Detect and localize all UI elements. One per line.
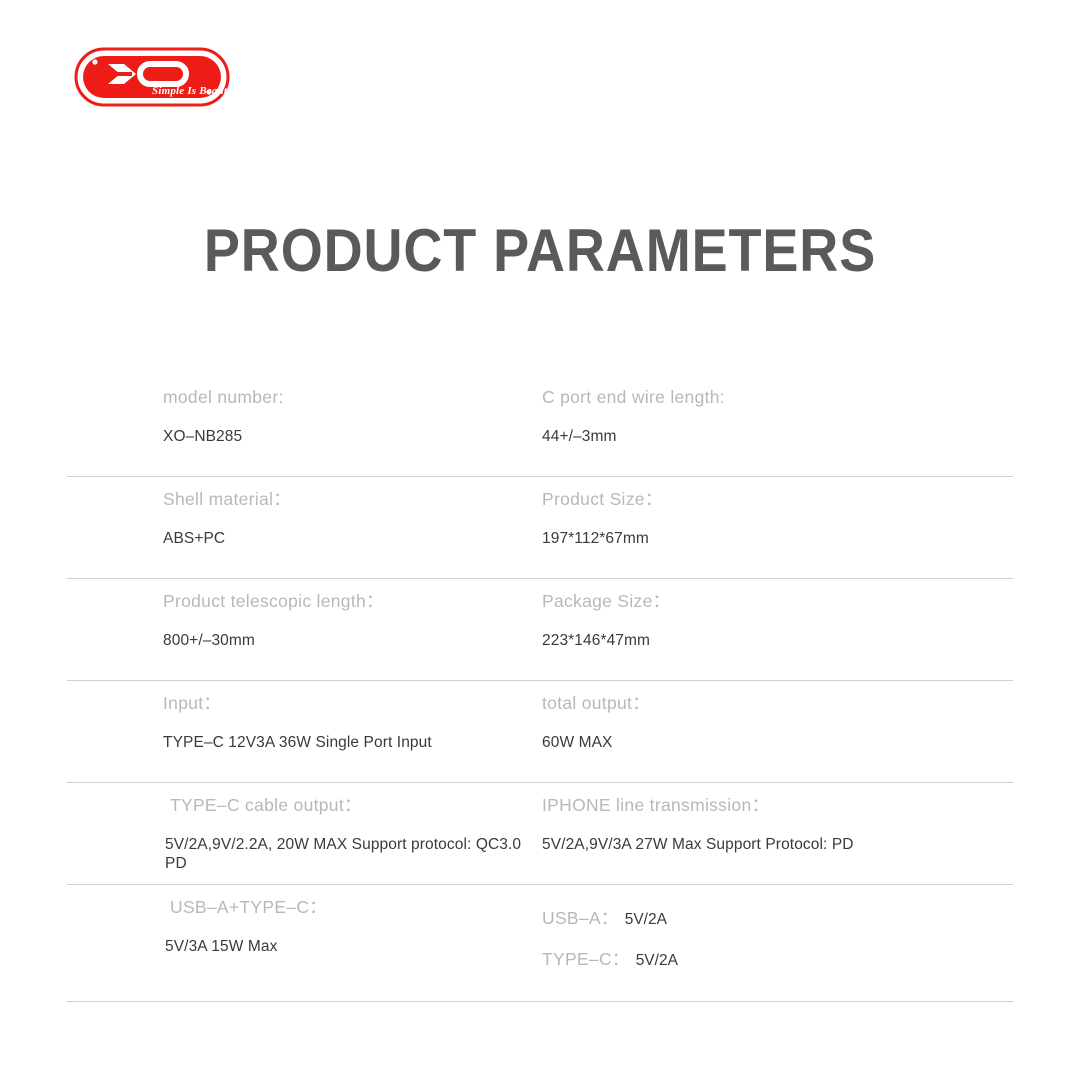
- spec-pair-label: USB–A：: [542, 905, 619, 930]
- spec-label: TYPE–C cable output：: [170, 795, 530, 816]
- spec-value: XO–NB285: [163, 428, 530, 447]
- table-row: Input： TYPE–C 12V3A 36W Single Port Inpu…: [67, 681, 1013, 783]
- spec-label: USB–A+TYPE–C：: [170, 897, 530, 918]
- spec-cell-right: Product Size： 197*112*67mm: [540, 489, 1013, 578]
- spec-value: 5V/2A,9V/2.2A, 20W MAX Support protocol:…: [165, 836, 530, 873]
- spec-cell-right: IPHONE line transmission： 5V/2A,9V/3A 27…: [540, 795, 1013, 884]
- table-row: Product telescopic length： 800+/–30mm Pa…: [67, 579, 1013, 681]
- spec-label: IPHONE line transmission：: [542, 795, 1003, 816]
- spec-cell-right: total output： 60W MAX: [540, 693, 1013, 782]
- spec-label: model number:: [163, 387, 530, 408]
- spec-label: Package Size：: [542, 591, 1003, 612]
- spec-label: Shell material：: [163, 489, 530, 510]
- table-row: USB–A+TYPE–C： 5V/3A 15W Max USB–A： 5V/2A…: [67, 885, 1013, 1002]
- spec-pair-label: TYPE–C：: [542, 946, 630, 971]
- spec-pair: TYPE–C： 5V/2A: [542, 946, 1003, 971]
- spec-value: 800+/–30mm: [163, 632, 530, 651]
- spec-value: 223*146*47mm: [542, 632, 1003, 651]
- spec-pair-list: USB–A： 5V/2A TYPE–C： 5V/2A: [542, 905, 1003, 971]
- page-title: PRODUCT PARAMETERS: [54, 216, 1026, 285]
- spec-cell-right: USB–A： 5V/2A TYPE–C： 5V/2A: [540, 897, 1013, 1001]
- spec-cell-left: TYPE–C cable output： 5V/2A,9V/2.2A, 20W …: [67, 795, 540, 884]
- spec-pair-value: 5V/2A: [625, 911, 667, 929]
- spec-cell-left: Input： TYPE–C 12V3A 36W Single Port Inpu…: [67, 693, 540, 782]
- xo-brand-logo: Simple Is Beauty: [74, 47, 230, 107]
- spec-pair-value: 5V/2A: [636, 952, 678, 970]
- spec-pair: USB–A： 5V/2A: [542, 905, 1003, 930]
- table-row: Shell material： ABS+PC Product Size： 197…: [67, 477, 1013, 579]
- product-parameters-page: Simple Is Beauty PRODUCT PARAMETERS mode…: [0, 0, 1080, 1080]
- specs-table: model number: XO–NB285 C port end wire l…: [67, 375, 1013, 1002]
- spec-value: 44+/–3mm: [542, 428, 1003, 447]
- spec-value: 5V/2A,9V/3A 27W Max Support Protocol: PD: [542, 836, 1003, 855]
- logo-icon: Simple Is Beauty: [74, 47, 230, 107]
- spec-label: total output：: [542, 693, 1003, 714]
- spec-value: ABS+PC: [163, 530, 530, 549]
- spec-cell-right: C port end wire length: 44+/–3mm: [540, 387, 1013, 476]
- spec-label: Product telescopic length：: [163, 591, 530, 612]
- svg-text:Simple Is Beauty: Simple Is Beauty: [152, 85, 230, 97]
- spec-value: TYPE–C 12V3A 36W Single Port Input: [163, 734, 530, 753]
- spec-label: Input：: [163, 693, 530, 714]
- spec-cell-left: Product telescopic length： 800+/–30mm: [67, 591, 540, 680]
- spec-value: 5V/3A 15W Max: [165, 938, 530, 957]
- spec-value: 60W MAX: [542, 734, 1003, 753]
- spec-value: 197*112*67mm: [542, 530, 1003, 549]
- spec-cell-left: Shell material： ABS+PC: [67, 489, 540, 578]
- spec-cell-left: USB–A+TYPE–C： 5V/3A 15W Max: [67, 897, 540, 1001]
- spec-cell-left: model number: XO–NB285: [67, 387, 540, 476]
- table-row: TYPE–C cable output： 5V/2A,9V/2.2A, 20W …: [67, 783, 1013, 885]
- spec-label: C port end wire length:: [542, 387, 1003, 408]
- spec-cell-right: Package Size： 223*146*47mm: [540, 591, 1013, 680]
- logo-tagline: Simple Is Beauty: [152, 85, 230, 97]
- spec-label: Product Size：: [542, 489, 1003, 510]
- table-row: model number: XO–NB285 C port end wire l…: [67, 375, 1013, 477]
